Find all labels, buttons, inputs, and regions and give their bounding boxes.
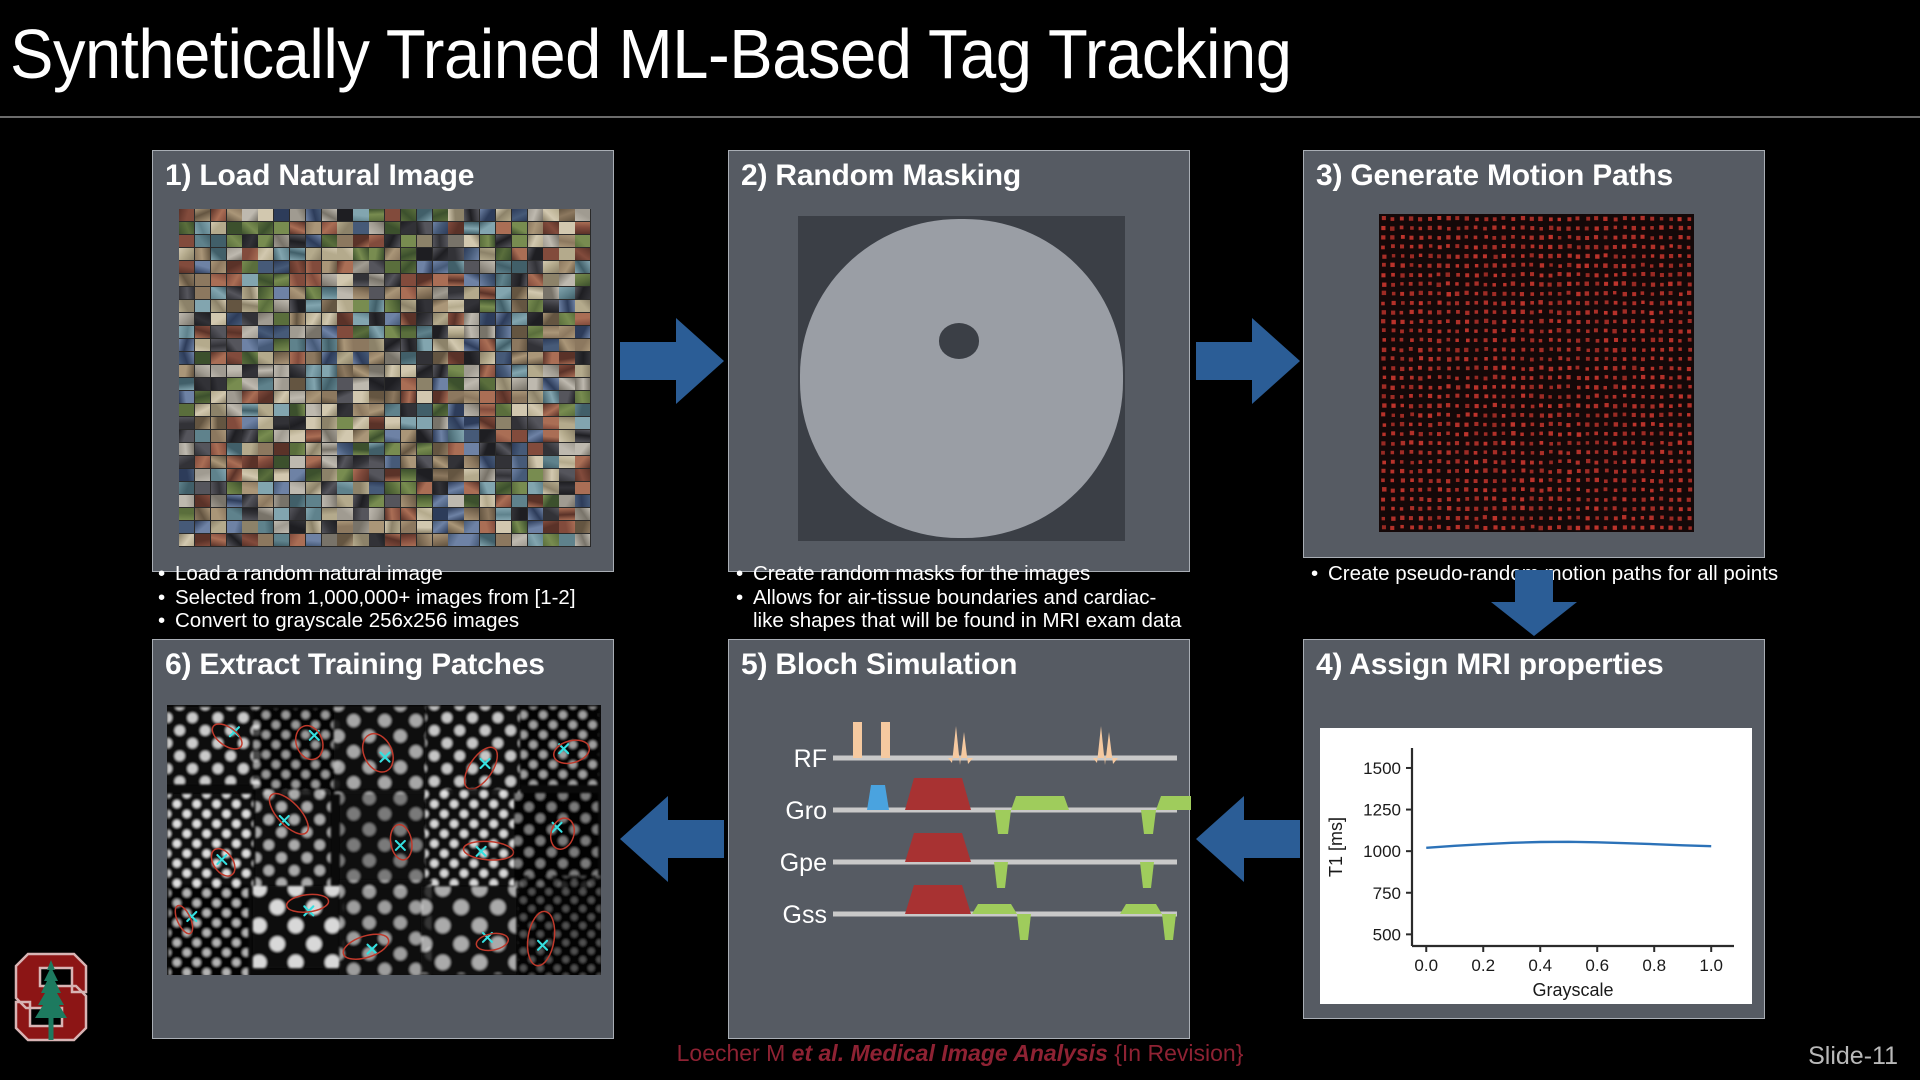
title-divider xyxy=(0,116,1920,118)
svg-text:0.4: 0.4 xyxy=(1528,956,1552,975)
bullet-text: Load a random natural image xyxy=(175,562,443,586)
bullet-marker: • xyxy=(1311,562,1328,586)
panel-bloch-simulation: 5) Bloch Simulation RFGroGpeGss xyxy=(728,639,1190,1039)
svg-text:Gpe: Gpe xyxy=(780,849,827,877)
bullet-marker: • xyxy=(158,586,175,610)
panel-1-bullets: •Load a random natural image •Selected f… xyxy=(158,562,628,633)
svg-text:0.8: 0.8 xyxy=(1642,956,1666,975)
svg-text:1.0: 1.0 xyxy=(1699,956,1723,975)
natural-image-mosaic xyxy=(179,209,591,547)
citation-status: {In Revision} xyxy=(1108,1040,1244,1066)
svg-text:750: 750 xyxy=(1373,884,1401,903)
mask-hole-shape xyxy=(939,323,980,359)
svg-text:0.0: 0.0 xyxy=(1414,956,1438,975)
panel-load-natural-image: 1) Load Natural Image xyxy=(152,150,614,572)
svg-text:1250: 1250 xyxy=(1363,801,1401,820)
bullet-marker: • xyxy=(158,562,175,586)
svg-text:RF: RF xyxy=(794,745,827,773)
arrow-step1-to-step2 xyxy=(620,318,724,404)
t1-vs-grayscale-plot: 5007501000125015000.00.20.40.60.81.0Gray… xyxy=(1320,728,1752,1004)
arrow-step5-to-step6 xyxy=(620,796,724,882)
panel-6-title: 6) Extract Training Patches xyxy=(165,648,545,682)
svg-text:1500: 1500 xyxy=(1363,759,1401,778)
motion-path-grid xyxy=(1379,214,1694,532)
title-bar: Synthetically Trained ML-Based Tag Track… xyxy=(0,0,1920,118)
svg-text:0.2: 0.2 xyxy=(1471,956,1495,975)
random-mask-shape xyxy=(798,216,1125,541)
bullet-text: Convert to grayscale 256x256 images xyxy=(175,609,519,633)
svg-text:Gss: Gss xyxy=(783,901,827,929)
citation-text: Loecher M et al. Medical Image Analysis … xyxy=(0,1040,1920,1067)
panel-assign-mri-properties: 4) Assign MRI properties 500750100012501… xyxy=(1303,639,1765,1019)
arrow-step4-to-step5 xyxy=(1196,796,1300,882)
panel-4-title: 4) Assign MRI properties xyxy=(1316,648,1663,682)
tagged-mri-patches xyxy=(167,705,601,975)
slide-root: Synthetically Trained ML-Based Tag Track… xyxy=(0,0,1920,1080)
arrow-step3-to-step4 xyxy=(1491,570,1577,636)
bullet-marker: • xyxy=(736,586,753,610)
svg-text:0.6: 0.6 xyxy=(1585,956,1609,975)
bullet-marker: • xyxy=(158,609,175,633)
panel-2-title: 2) Random Masking xyxy=(741,159,1021,193)
citation-journal: et al. Medical Image Analysis xyxy=(792,1040,1108,1066)
panel-1-title: 1) Load Natural Image xyxy=(165,159,474,193)
bullet-marker: • xyxy=(736,562,753,586)
svg-text:T1 [ms]: T1 [ms] xyxy=(1326,817,1346,877)
bullet-text: Allows for air-tissue boundaries and car… xyxy=(753,586,1181,633)
bullet-text: Selected from 1,000,000+ images from [1-… xyxy=(175,586,576,610)
mask-body-shape xyxy=(800,219,1124,538)
pulse-sequence-diagram: RFGroGpeGss xyxy=(729,720,1191,960)
panel-generate-motion-paths: 3) Generate Motion Paths xyxy=(1303,150,1765,558)
svg-text:Gro: Gro xyxy=(785,797,827,825)
arrow-step2-to-step3 xyxy=(1196,318,1300,404)
panel-random-masking: 2) Random Masking xyxy=(728,150,1190,572)
panel-5-title: 5) Bloch Simulation xyxy=(741,648,1017,682)
svg-text:500: 500 xyxy=(1373,925,1401,944)
panel-extract-training-patches: 6) Extract Training Patches xyxy=(152,639,614,1039)
slide-number: Slide-11 xyxy=(1808,1042,1898,1071)
page-title: Synthetically Trained ML-Based Tag Track… xyxy=(10,14,1291,94)
stanford-tree-logo xyxy=(14,948,88,1044)
svg-text:1000: 1000 xyxy=(1363,842,1401,861)
panel-3-title: 3) Generate Motion Paths xyxy=(1316,159,1673,193)
svg-text:Grayscale: Grayscale xyxy=(1532,980,1613,1000)
citation-author: Loecher M xyxy=(677,1040,792,1066)
bullet-text: Create random masks for the images xyxy=(753,562,1090,586)
panel-2-bullets: •Create random masks for the images •All… xyxy=(736,562,1186,633)
